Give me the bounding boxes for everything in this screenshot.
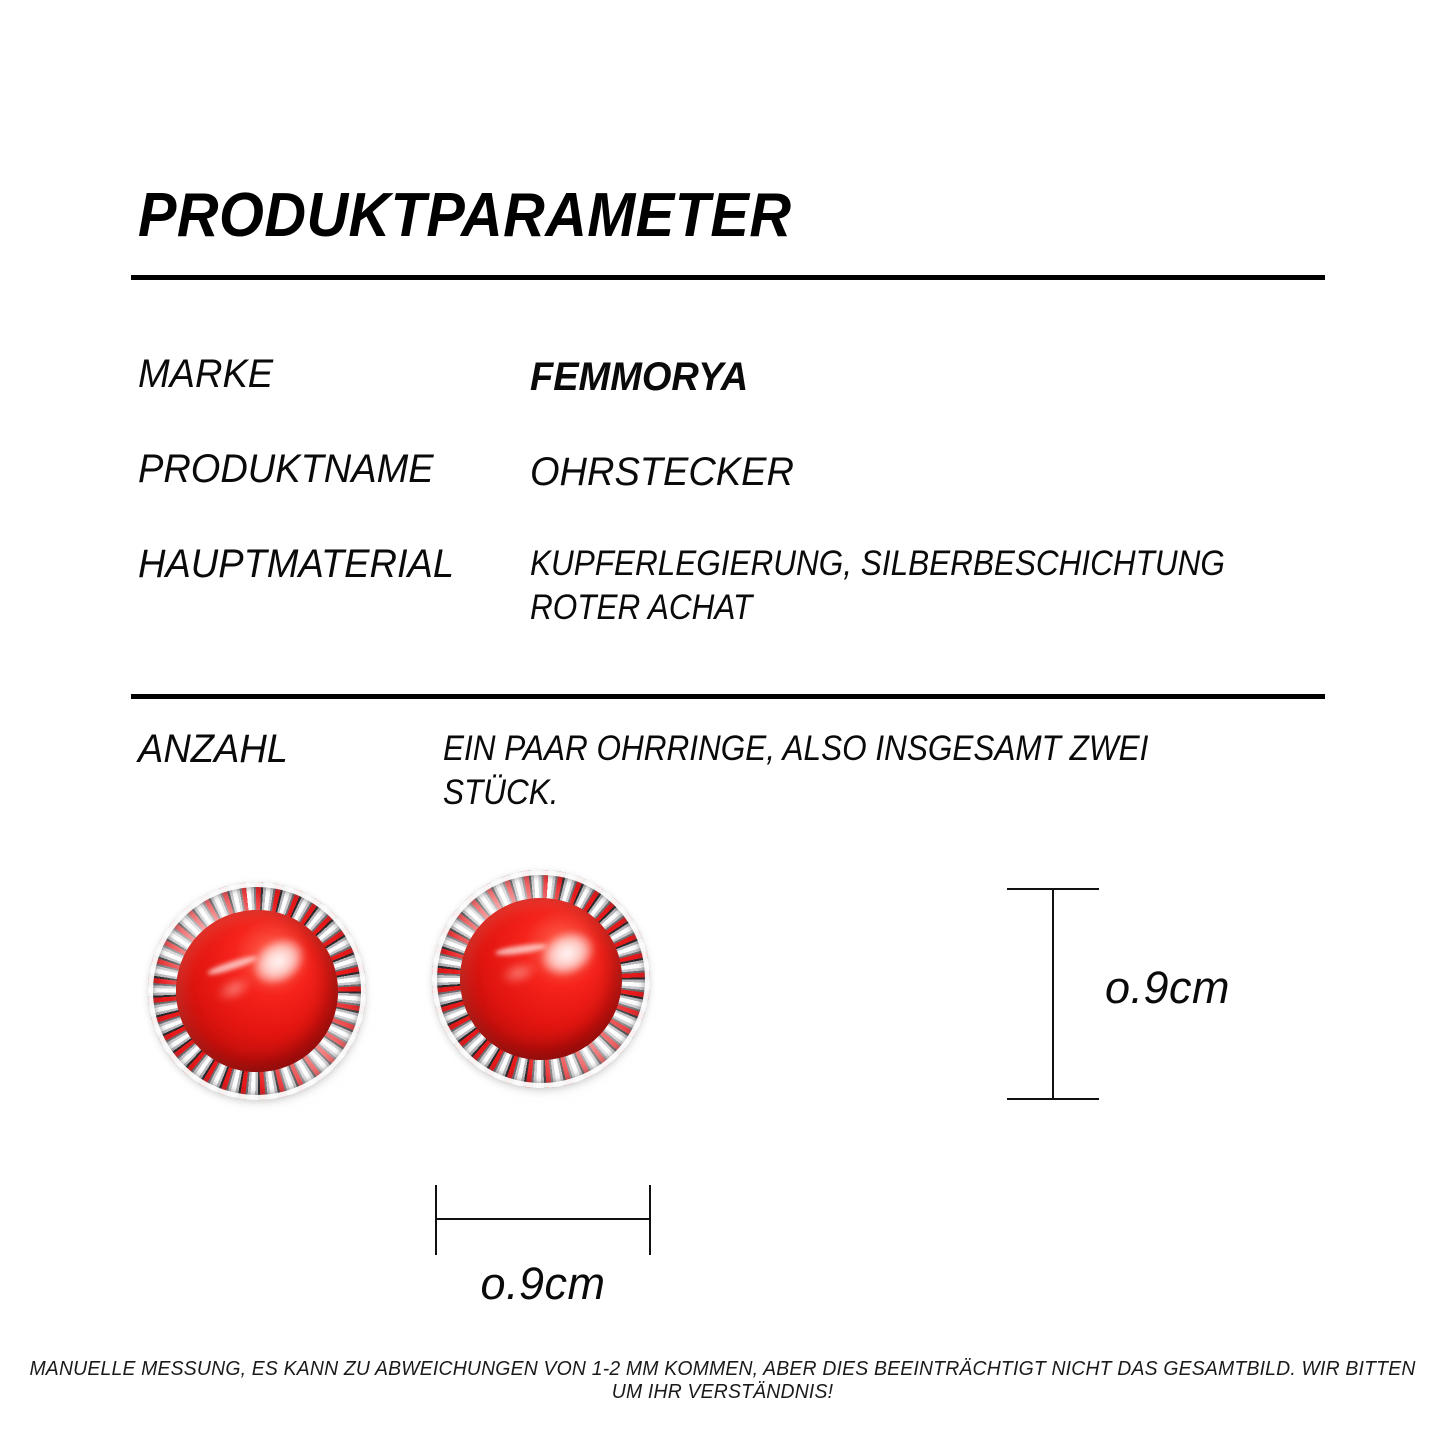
divider-middle — [131, 694, 1325, 699]
width-dimension-label: o.9cm — [435, 1258, 651, 1310]
gem-highlight-streak — [206, 953, 258, 977]
ruler-cap-left — [435, 1185, 437, 1255]
measurement-disclaimer: MANUELLE MESSUNG, ES KANN ZU ABWEICHUNGE… — [22, 1358, 1424, 1404]
product-parameter-sheet: PRODUKTPARAMETER MARKE FEMMORYA PRODUKTN… — [0, 0, 1445, 1445]
ruler-stem-vertical — [1052, 888, 1054, 1100]
width-dimension-ruler — [435, 1185, 651, 1255]
gem-highlight-primary — [244, 928, 313, 993]
spec-value-anzahl: EIN PAAR OHRRINGE, ALSO INSGESAMT ZWEI S… — [443, 727, 1249, 815]
spec-row-produktname: PRODUKTNAME OHRSTECKER — [138, 447, 1338, 497]
spec-label-produktname: PRODUKTNAME — [138, 447, 510, 492]
gem-highlight-primary — [533, 923, 600, 984]
spec-row-anzahl: ANZAHL EIN PAAR OHRRINGE, ALSO INSGESAMT… — [138, 727, 1338, 815]
gem-highlight-secondary — [497, 956, 540, 988]
product-photo — [120, 840, 720, 1150]
ruler-stem-horizontal — [435, 1218, 651, 1220]
ruler-cap-right — [649, 1185, 651, 1255]
divider-top — [131, 275, 1325, 280]
spec-row-hauptmaterial: HAUPTMATERIAL KUPFERLEGIERUNG, SILBERBES… — [138, 542, 1338, 630]
height-dimension-label: o.9cm — [1105, 962, 1230, 1014]
height-dimension-ruler — [1007, 888, 1099, 1100]
gem-highlight-streak — [494, 942, 546, 957]
page-title: PRODUKTPARAMETER — [138, 180, 791, 251]
earring-right — [425, 863, 658, 1096]
ruler-cap-bottom — [1007, 1098, 1099, 1100]
gem-highlight-secondary — [212, 970, 257, 1007]
earring-left — [137, 871, 377, 1111]
spec-label-hauptmaterial: HAUPTMATERIAL — [138, 542, 510, 587]
spec-value-hauptmaterial: KUPFERLEGIERUNG, SILBERBESCHICHTUNG ROTE… — [530, 542, 1225, 630]
spec-label-anzahl: ANZAHL — [138, 727, 428, 772]
spec-label-marke: MARKE — [138, 352, 510, 397]
spec-value-produktname: OHRSTECKER — [530, 447, 794, 497]
spec-value-marke: FEMMORYA — [530, 352, 748, 402]
spec-row-marke: MARKE FEMMORYA — [138, 352, 1338, 402]
